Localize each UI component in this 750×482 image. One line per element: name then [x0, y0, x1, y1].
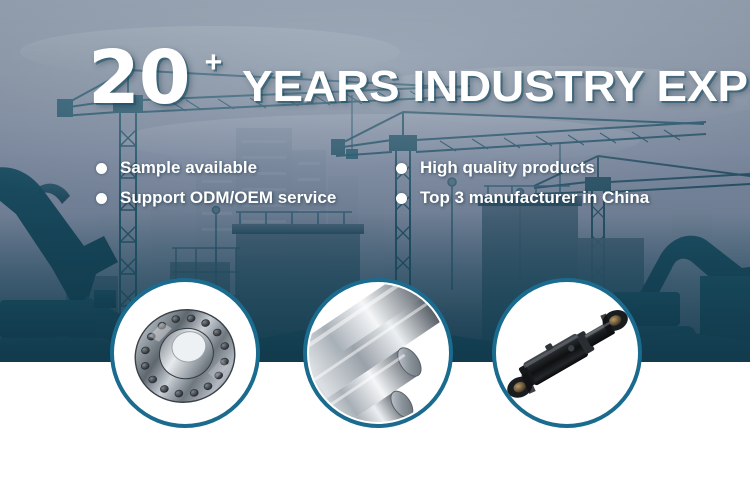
industry-experience-banner: 20 + YEARS INDUSTRY EXPERIENCE Sample av… — [0, 0, 750, 482]
headline-text: YEARS INDUSTRY EXPERIENCE — [242, 65, 750, 109]
feature-item-sample-available: Sample available — [96, 158, 396, 178]
bullet-dot-icon — [396, 193, 407, 204]
product-circle-steel-bars[interactable] — [303, 278, 453, 428]
bullet-dot-icon — [396, 163, 407, 174]
feature-item-top-3-manufacturer: Top 3 manufacturer in China — [396, 188, 649, 208]
feature-list: Sample available Support ODM/OEM service… — [96, 158, 706, 208]
feature-item-high-quality: High quality products — [396, 158, 649, 178]
feature-item-odm-oem: Support ODM/OEM service — [96, 188, 396, 208]
feature-column-right: High quality products Top 3 manufacturer… — [396, 158, 649, 208]
bullet-dot-icon — [96, 163, 107, 174]
headline: 20 + YEARS INDUSTRY EXPERIENCE — [88, 44, 750, 112]
feature-label: Top 3 manufacturer in China — [420, 188, 649, 208]
forged-flange-icon — [114, 282, 256, 424]
feature-column-left: Sample available Support ODM/OEM service — [96, 158, 396, 208]
hydraulic-cylinder-icon — [496, 282, 638, 424]
years-number: 20 — [88, 44, 190, 112]
feature-label: Support ODM/OEM service — [120, 188, 336, 208]
product-circle-forged-flange[interactable] — [110, 278, 260, 428]
product-circle-hydraulic-cylinder[interactable] — [492, 278, 642, 428]
feature-label: High quality products — [420, 158, 595, 178]
steel-round-bars-icon — [307, 282, 449, 424]
feature-label: Sample available — [120, 158, 257, 178]
bullet-dot-icon — [96, 193, 107, 204]
plus-superscript: + — [205, 48, 223, 78]
